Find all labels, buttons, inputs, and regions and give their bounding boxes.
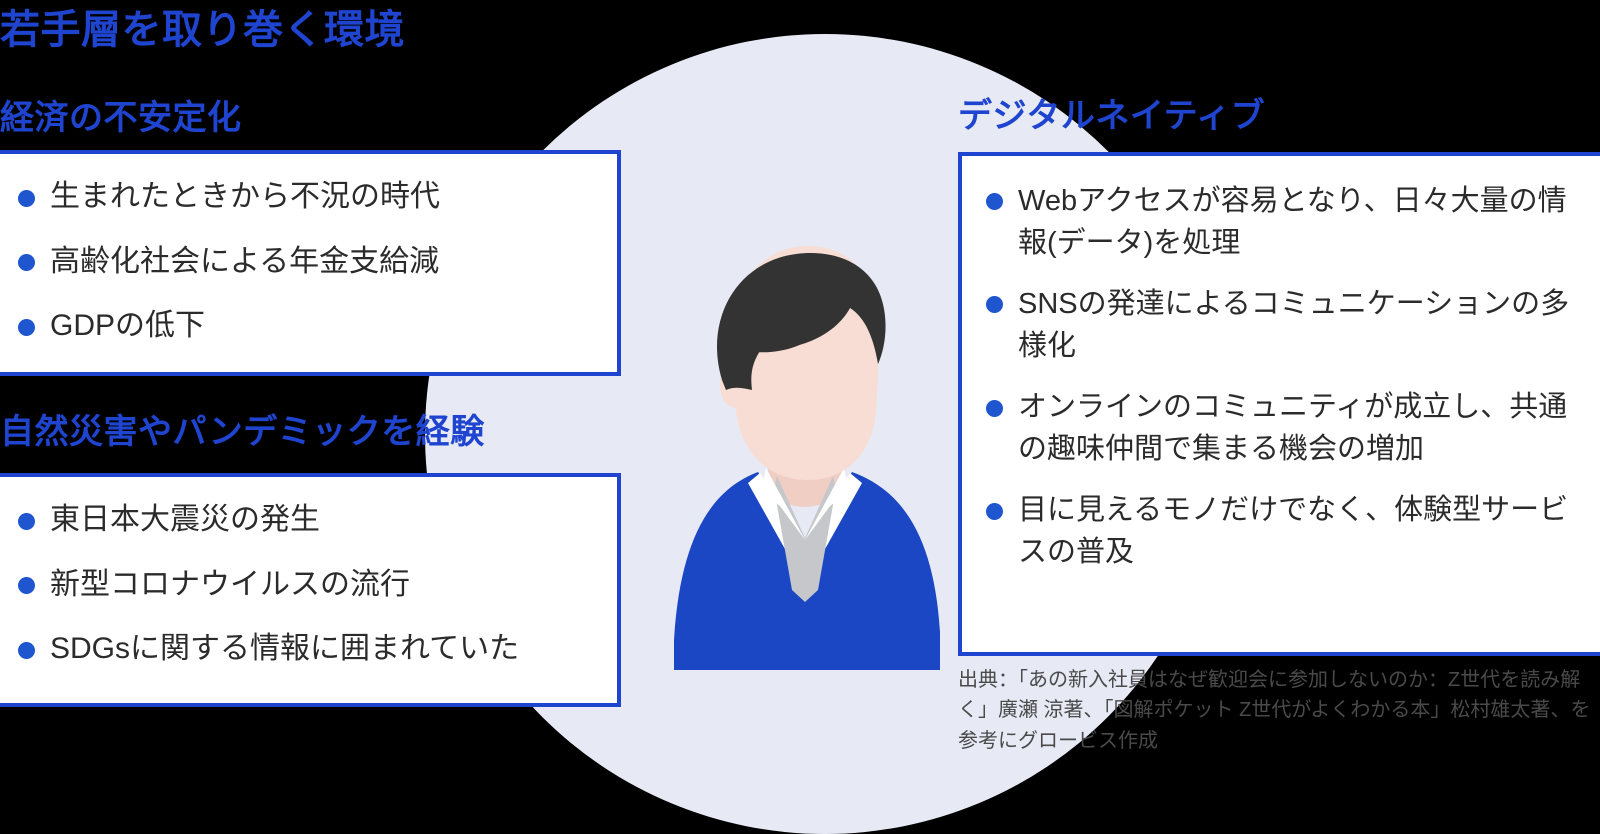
bullet-dot-icon — [18, 254, 35, 271]
list-item: 東日本大震災の発生 — [14, 499, 603, 542]
page-title: 若手層を取り巻く環境 — [0, 8, 405, 52]
list-item-label: 新型コロナウイルスの流行 — [50, 568, 410, 601]
bullet-dot-icon — [18, 190, 35, 207]
list-item: 生まれたときから不況の時代 — [14, 176, 603, 219]
list-item: オンラインのコミュニティが成立し、共通の趣味仲間で集まる機会の増加 — [980, 386, 1588, 470]
list-item: Webアクセスが容易となり、日々大量の情報(データ)を処理 — [980, 180, 1588, 264]
source-citation: 出典：「あの新入社員はなぜ歓迎会に参加しないのか：Z世代を読み解く」廣瀬 涼著、… — [958, 665, 1598, 756]
disaster-bullet-box: 東日本大震災の発生 新型コロナウイルスの流行 SDGsに関する情報に囲まれていた — [0, 473, 621, 707]
bullet-dot-icon — [986, 296, 1003, 313]
list-item-label: SNSの発達によるコミュニケーションの多様化 — [1018, 288, 1569, 362]
bullet-dot-icon — [18, 642, 35, 659]
section-heading-digital: デジタルネイティブ — [958, 98, 1265, 135]
economy-bullet-list: 生まれたときから不況の時代 高齢化社会による年金支給減 GDPの低下 — [14, 176, 603, 348]
section-heading-economy: 経済の不安定化 — [0, 100, 242, 137]
list-item-label: SDGsに関する情報に囲まれていた — [50, 632, 519, 665]
bullet-dot-icon — [18, 513, 35, 530]
bullet-dot-icon — [986, 400, 1003, 417]
digital-bullet-box: Webアクセスが容易となり、日々大量の情報(データ)を処理 SNSの発達によるコ… — [958, 152, 1600, 656]
list-item: SNSの発達によるコミュニケーションの多様化 — [980, 283, 1588, 367]
infographic-canvas: 若手層を取り巻く環境 経済の不安定化 生まれたときから不況の時代 高齢化社会によ… — [0, 0, 1600, 834]
bullet-dot-icon — [986, 503, 1003, 520]
economy-box-inner: 生まれたときから不況の時代 高齢化社会による年金支給減 GDPの低下 — [0, 154, 617, 348]
list-item-label: オンラインのコミュニティが成立し、共通の趣味仲間で集まる機会の増加 — [1018, 391, 1567, 465]
economy-bullet-box: 生まれたときから不況の時代 高齢化社会による年金支給減 GDPの低下 — [0, 150, 621, 376]
digital-bullet-list: Webアクセスが容易となり、日々大量の情報(データ)を処理 SNSの発達によるコ… — [980, 180, 1588, 573]
disaster-bullet-list: 東日本大震災の発生 新型コロナウイルスの流行 SDGsに関する情報に囲まれていた — [14, 499, 603, 671]
list-item: GDPの低下 — [14, 305, 603, 348]
list-item: 新型コロナウイルスの流行 — [14, 564, 603, 607]
businessman-illustration — [640, 240, 970, 670]
list-item-label: GDPの低下 — [50, 309, 205, 342]
list-item-label: 生まれたときから不況の時代 — [50, 180, 440, 213]
list-item-label: Webアクセスが容易となり、日々大量の情報(データ)を処理 — [1018, 185, 1567, 259]
section-heading-disaster: 自然災害やパンデミックを経験 — [0, 414, 485, 451]
disaster-box-inner: 東日本大震災の発生 新型コロナウイルスの流行 SDGsに関する情報に囲まれていた — [0, 477, 617, 671]
list-item: SDGsに関する情報に囲まれていた — [14, 628, 603, 671]
list-item-label: 東日本大震災の発生 — [50, 503, 320, 536]
list-item: 高齢化社会による年金支給減 — [14, 241, 603, 284]
list-item-label: 目に見えるモノだけでなく、体験型サービスの普及 — [1018, 494, 1568, 568]
bullet-dot-icon — [18, 577, 35, 594]
digital-box-inner: Webアクセスが容易となり、日々大量の情報(データ)を処理 SNSの発達によるコ… — [962, 156, 1600, 573]
bullet-dot-icon — [986, 193, 1003, 210]
list-item: 目に見えるモノだけでなく、体験型サービスの普及 — [980, 489, 1588, 573]
list-item-label: 高齢化社会による年金支給減 — [50, 245, 439, 278]
bullet-dot-icon — [18, 319, 35, 336]
